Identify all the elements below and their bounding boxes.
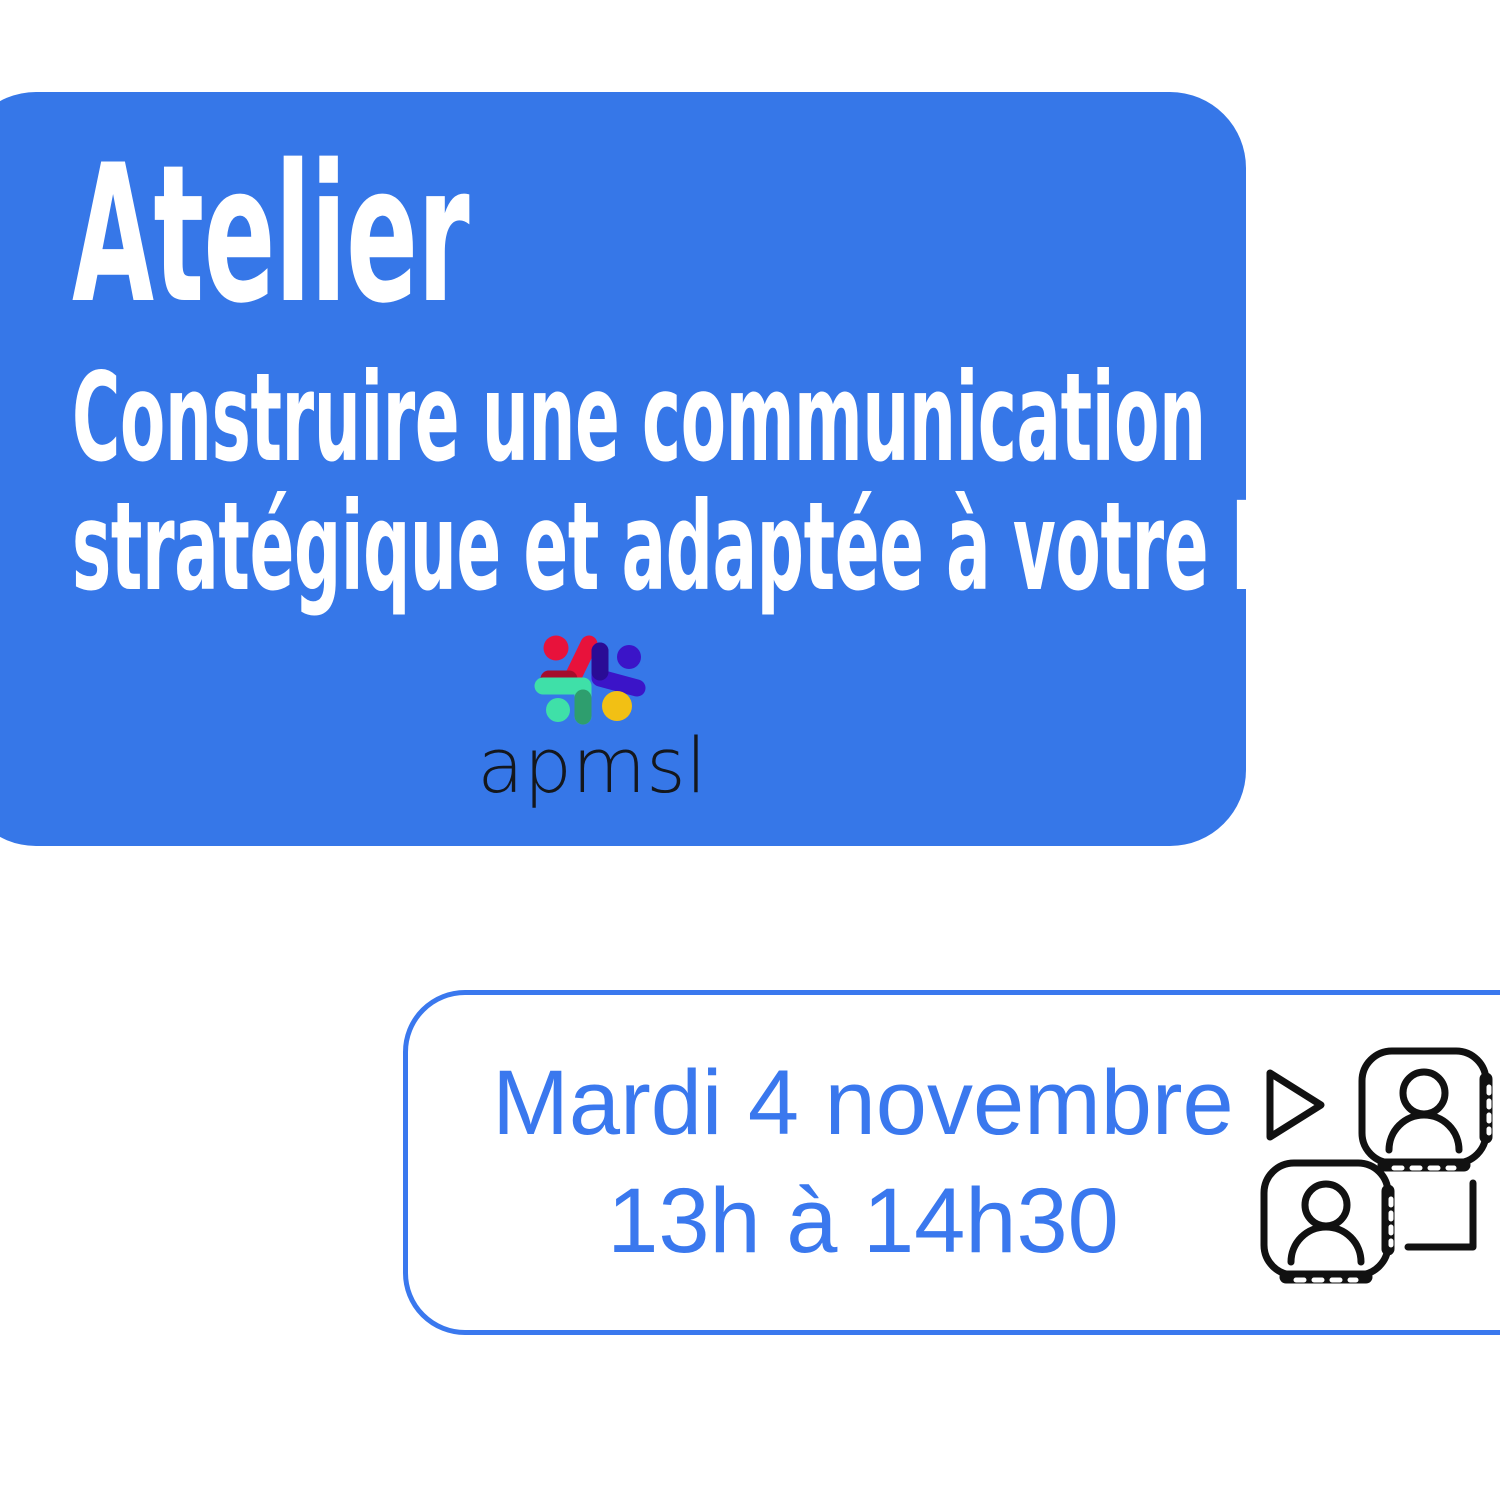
page-subtitle: Construire une communication stratégique… — [72, 354, 1391, 613]
subtitle-line-1: Construire une communication — [72, 354, 1391, 483]
schedule-card: Mardi 4 novembre 13h à 14h30 — [403, 990, 1500, 1335]
video-meeting-icon — [1258, 1037, 1500, 1302]
schedule-text: Mardi 4 novembre 13h à 14h30 — [468, 1045, 1258, 1281]
subtitle-line-2: stratégique et adaptée à votre MSP — [72, 483, 1391, 612]
page-title: Atelier — [72, 140, 469, 330]
hero-content: Atelier Construire une communication str… — [72, 92, 1246, 846]
hero-panel: Atelier Construire une communication str… — [0, 92, 1246, 846]
schedule-time: 13h à 14h30 — [468, 1163, 1258, 1281]
apmsl-wordmark: apmsl — [462, 728, 722, 804]
apmsl-logo: apmsl — [462, 630, 722, 800]
apmsl-pinwheel-logo-icon — [525, 630, 660, 730]
schedule-date: Mardi 4 novembre — [468, 1045, 1258, 1163]
